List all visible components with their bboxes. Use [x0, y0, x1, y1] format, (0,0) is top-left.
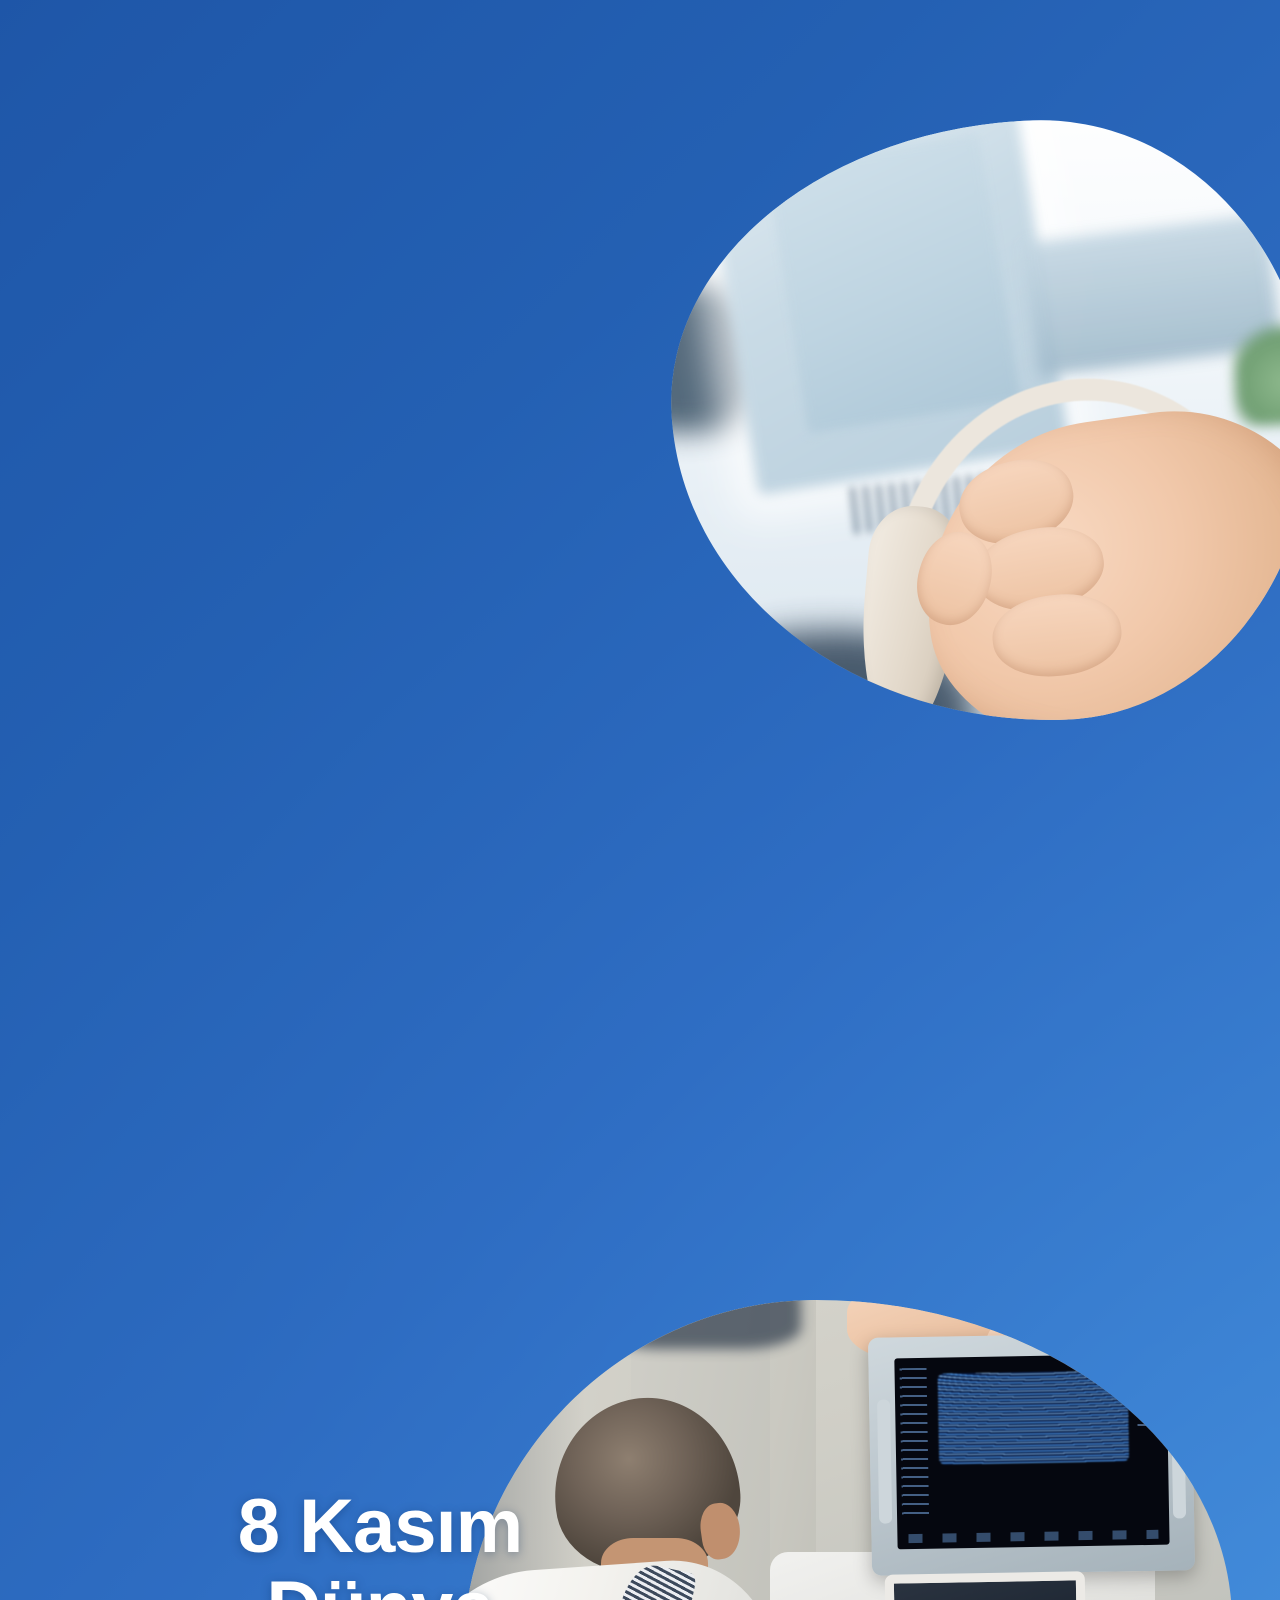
monitor-grip-right — [1171, 1394, 1186, 1518]
headline-line-2: Dünya — [0, 1568, 760, 1600]
ultrasound-screen-toolbar — [908, 1529, 1158, 1543]
ultrasound-probe-in-hand-photo — [662, 111, 1280, 733]
ultrasound-screen-right-menu — [1136, 1364, 1162, 1429]
photo-top-plant — [1232, 316, 1280, 427]
headline-line-1: 8 Kasım — [0, 1486, 760, 1568]
sonogram-image — [938, 1370, 1130, 1465]
ultrasound-screen — [894, 1354, 1169, 1549]
photo-bottom-touch-panel — [884, 1571, 1087, 1600]
photo-bottom-ultrasound-monitor — [868, 1332, 1195, 1576]
monitor-grip-left — [877, 1399, 892, 1523]
poster-canvas: 8 Kasım Dünya Radyoloji Günü Doğru Tanı,… — [0, 0, 1280, 1600]
page-title: 8 Kasım Dünya Radyoloji Günü — [0, 1486, 760, 1600]
ultrasound-screen-left-menu — [900, 1368, 930, 1521]
photo-top-monitor-screen — [767, 135, 1021, 434]
photo-bottom-background-dark — [601, 1300, 801, 1349]
photo-top-scene — [662, 111, 1280, 733]
